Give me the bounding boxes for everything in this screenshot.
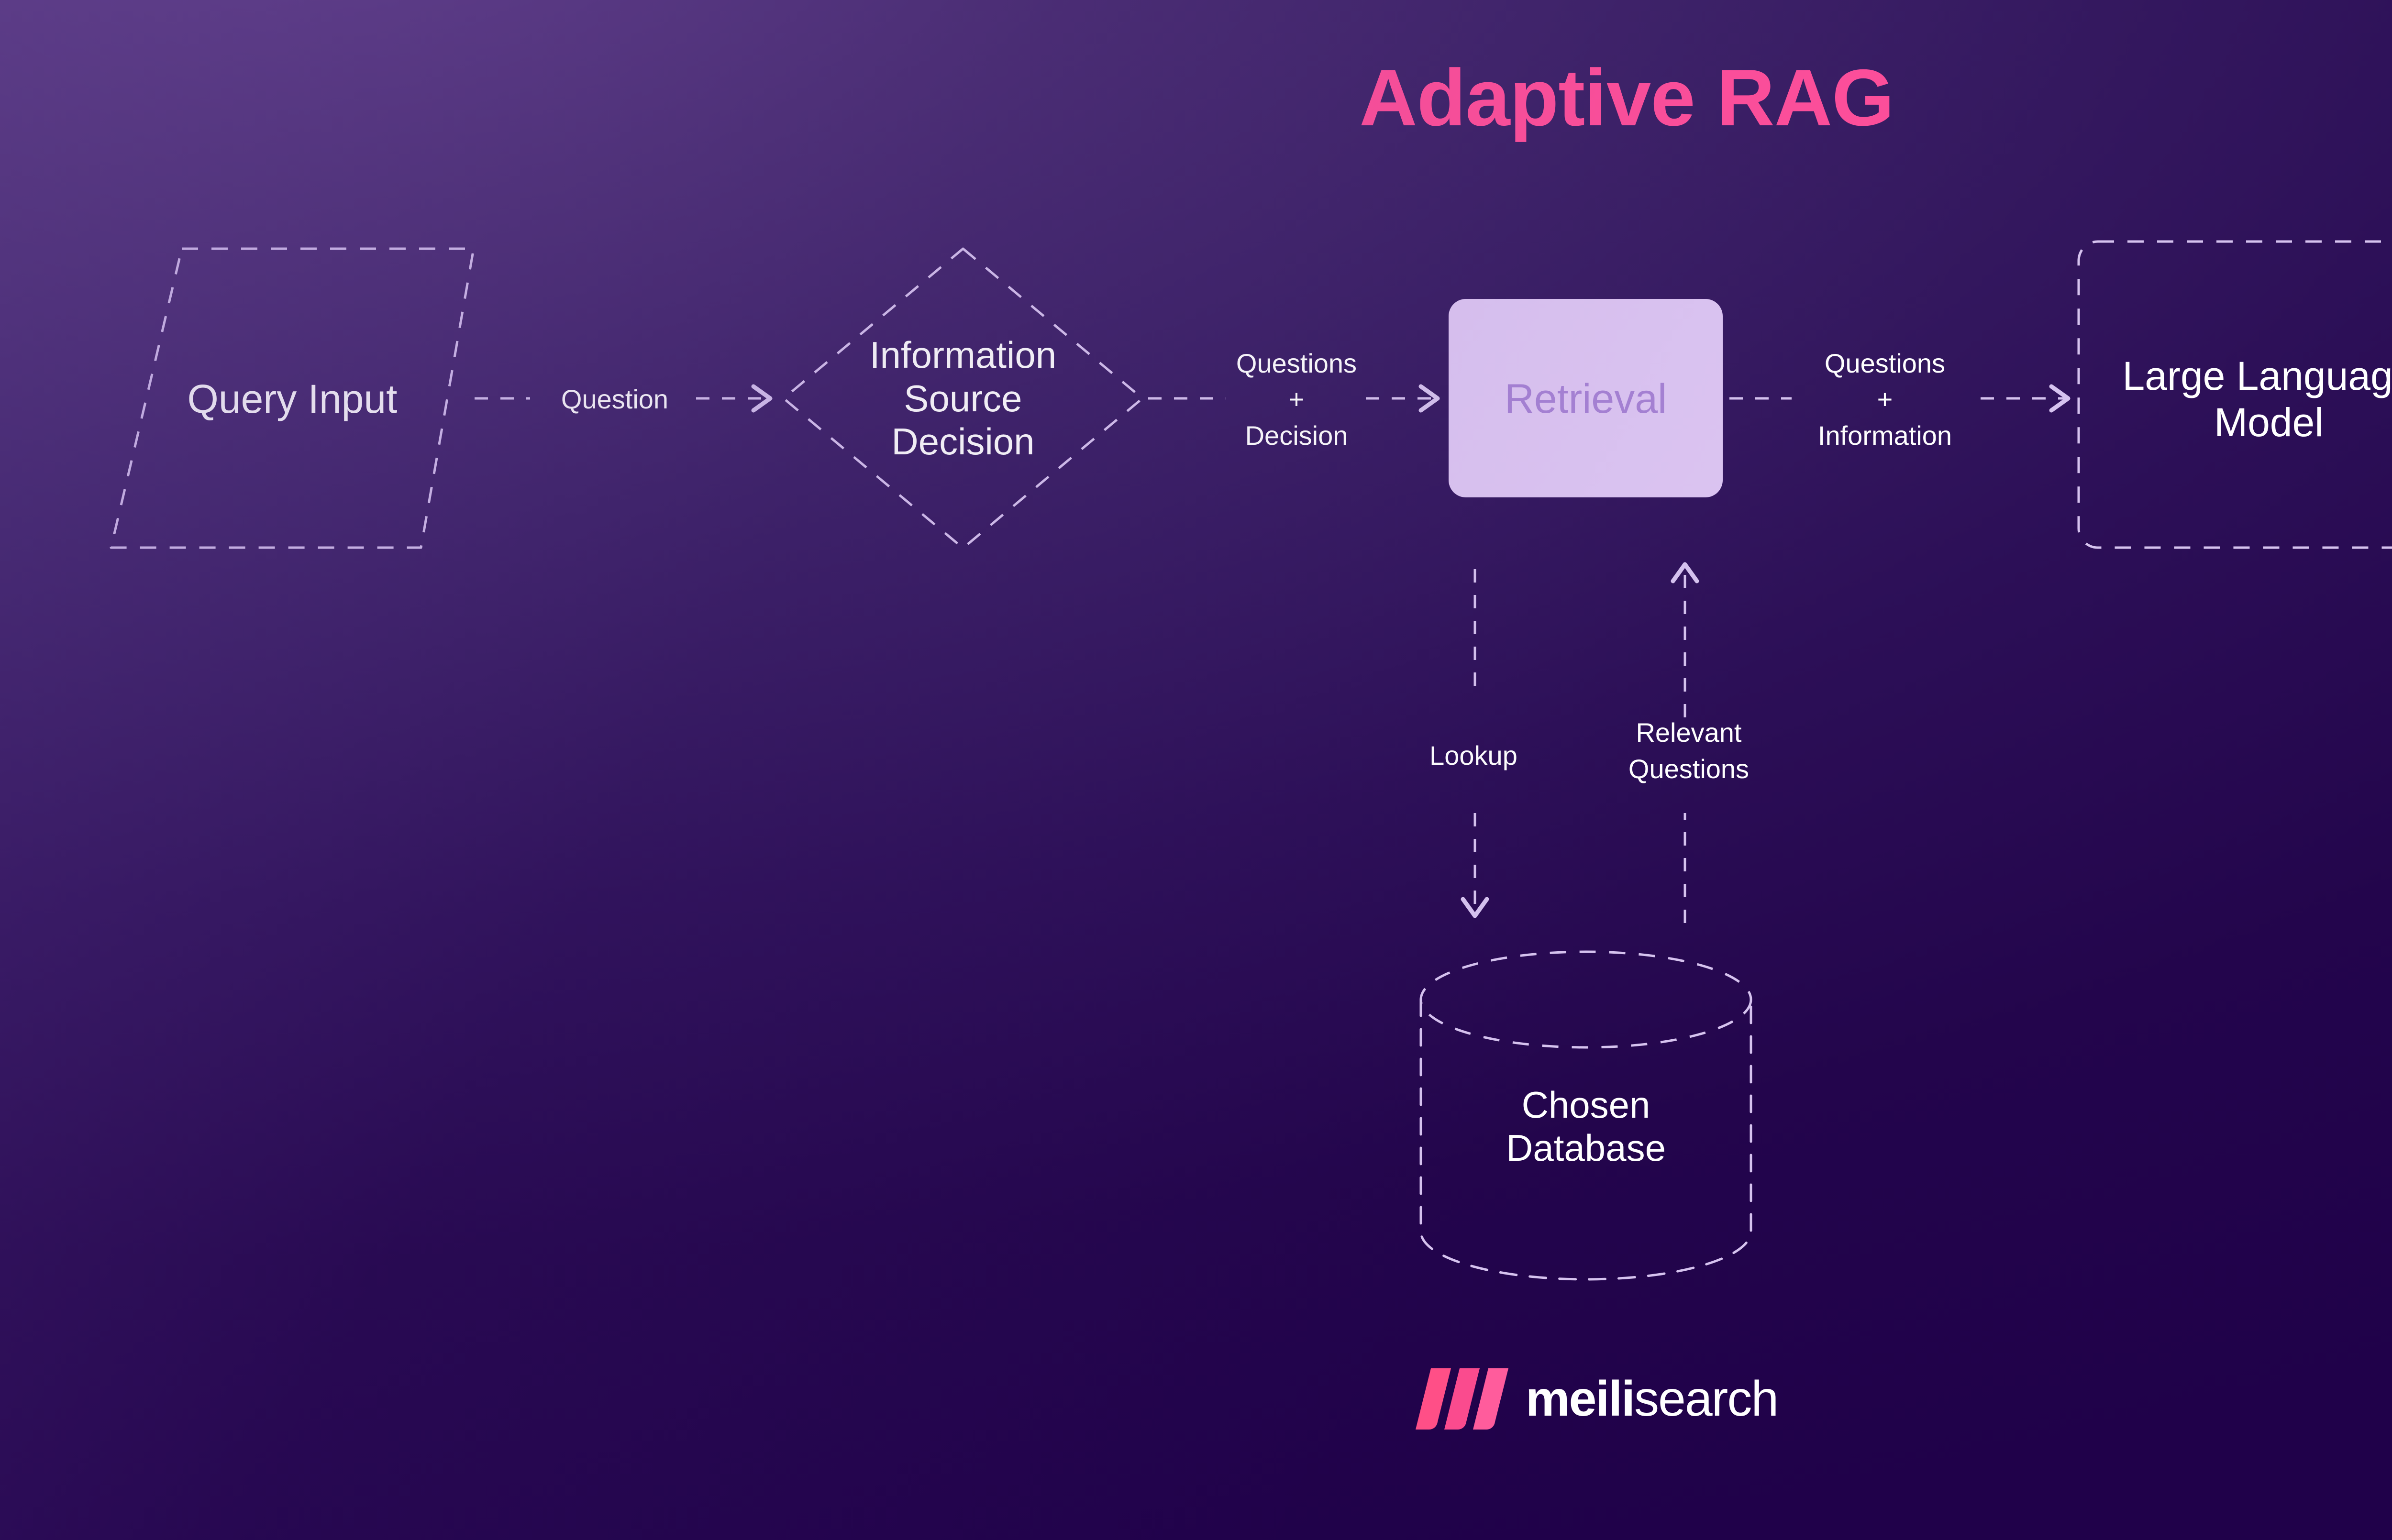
node-shape-chosen-database-top (1421, 952, 1751, 1047)
node-shape-retrieval (1449, 299, 1723, 497)
logo-word-meili: meili (1526, 1374, 1634, 1424)
meilisearch-mark-icon (1414, 1365, 1509, 1432)
node-shape-chosen-database-body (1421, 1000, 1751, 1279)
edge-label-question: Question (512, 368, 718, 430)
node-shape-llm (2079, 242, 2392, 548)
edge-label-questions-information: Questions + Information (1770, 335, 2000, 464)
diagram-canvas: Adaptive RAG Query Input Information Sou… (0, 0, 2392, 1540)
page-title: Adaptive RAG (0, 57, 2392, 138)
edge-label-questions-decision: Questions + Decision (1210, 335, 1383, 464)
meilisearch-logo[interactable]: meilisearch (1414, 1365, 1778, 1432)
edge-label-lookup: Lookup (1354, 698, 1593, 813)
meilisearch-wordmark: meilisearch (1526, 1374, 1778, 1424)
edge-label-relevant-questions: Relevant Questions (1588, 689, 1789, 813)
diagram-vector-layer (0, 0, 2392, 1540)
logo-word-search: search (1634, 1374, 1778, 1424)
node-shape-source-decision (784, 249, 1142, 548)
node-shape-query-input (111, 249, 474, 548)
